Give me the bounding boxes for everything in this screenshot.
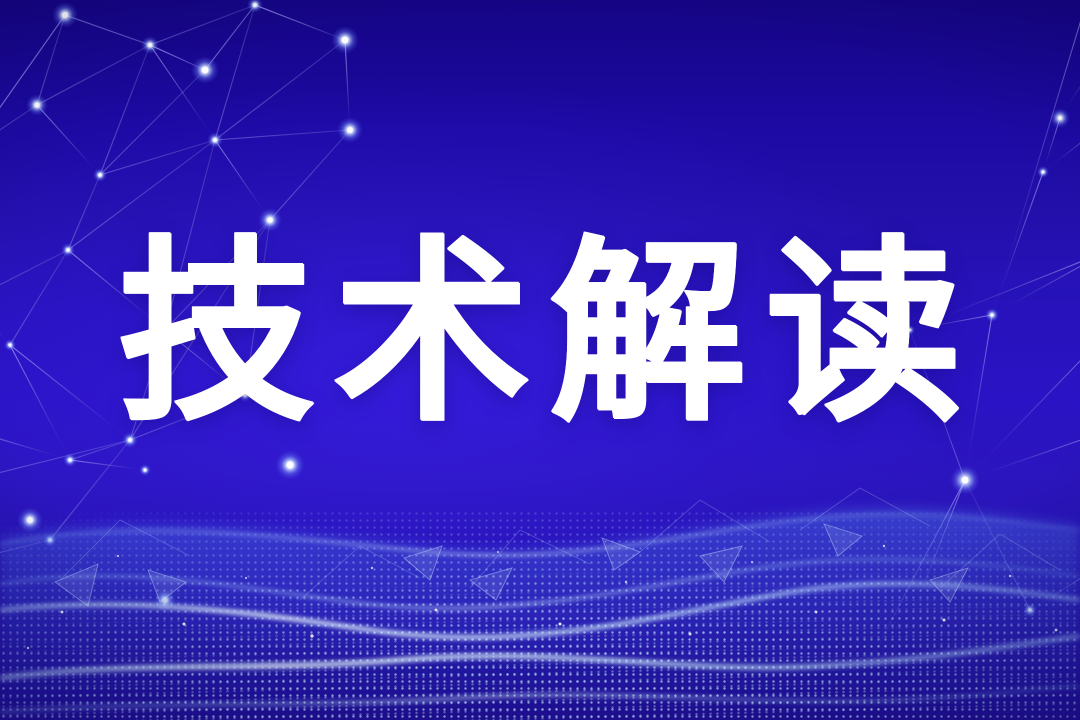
tech-banner: 技术解读 [0,0,1080,720]
background-vignette [0,0,1080,720]
